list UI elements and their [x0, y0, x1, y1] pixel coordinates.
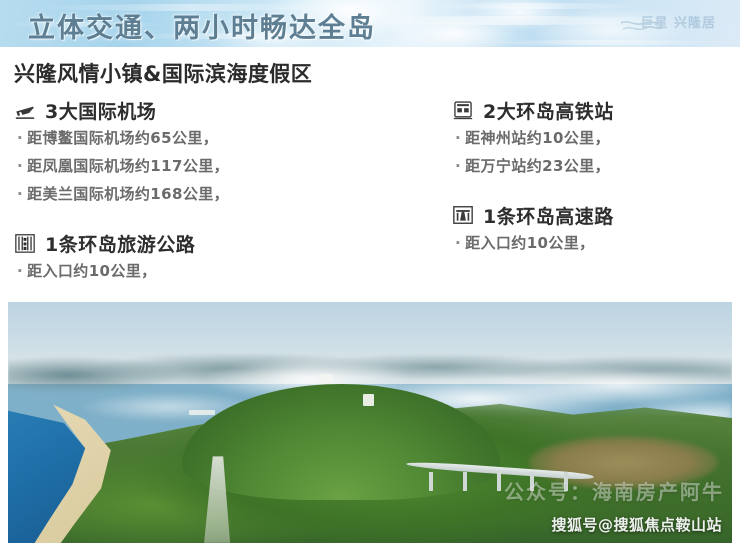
train-icon — [452, 99, 474, 121]
info-block-list: · 距博鳌国际机场约65公里， · 距凤凰国际机场约117公里， · 距美兰国际… — [14, 131, 434, 202]
list-item-text: 距入口约10公里， — [465, 236, 594, 251]
hillside-building — [319, 374, 333, 383]
cloud-streak — [420, 3, 650, 9]
watermark: 搜狐号@搜狐焦点鞍山站 — [551, 514, 722, 535]
info-block-list: · 距入口约10公里， — [14, 264, 434, 279]
list-item-text: 距博鳌国际机场约65公里， — [27, 131, 218, 146]
bullet-marker: · — [17, 264, 23, 279]
hillside-building — [189, 410, 215, 415]
list-item-text: 距万宁站约23公里， — [465, 159, 610, 174]
bridge-pier — [429, 472, 433, 490]
highway-icon — [452, 204, 474, 226]
faint-watermark: 公众号：海南房产阿牛 — [504, 476, 724, 505]
info-block-list: · 距神州站约10公里， · 距万宁站约23公里， — [452, 131, 732, 174]
bullet-marker: · — [455, 131, 461, 146]
list-item-text: 距神州站约10公里， — [465, 131, 610, 146]
brand-logo: 巨星 兴隆居 — [620, 12, 716, 38]
bullet-marker: · — [455, 159, 461, 174]
info-block-header: 1条环岛旅游公路 — [14, 229, 434, 257]
info-column-right: 2大环岛高铁站 · 距神州站约10公里， · 距万宁站约23公里， — [452, 96, 732, 264]
banner-title: 立体交通、两小时畅达全岛 — [28, 6, 376, 45]
list-item-text: 距美兰国际机场约168公里， — [27, 187, 229, 202]
airplane-takeoff-icon — [14, 99, 36, 121]
info-block-heading: 1条环岛旅游公路 — [45, 230, 195, 257]
info-block-list: · 距入口约10公里， — [452, 236, 732, 251]
list-item-text: 距凤凰国际机场约117公里， — [27, 159, 229, 174]
bullet-marker: · — [17, 131, 23, 146]
promotional-infographic-page: 立体交通、两小时畅达全岛 巨星 兴隆居 兴隆风情小镇&国际滨海度假区 3大国际机… — [0, 0, 740, 543]
info-block-heading: 1条环岛高速路 — [483, 202, 614, 229]
info-block-heading: 2大环岛高铁站 — [483, 97, 614, 124]
info-block-tourist-road: 1条环岛旅游公路 · 距入口约10公里， — [14, 229, 434, 279]
bridge-pier — [463, 472, 467, 490]
list-item: · 距凤凰国际机场约117公里， — [17, 159, 434, 174]
info-block-heading: 3大国际机场 — [45, 97, 156, 124]
info-block-header: 2大环岛高铁站 — [452, 96, 732, 124]
brand-logo-text: 巨星 兴隆居 — [640, 12, 716, 31]
header-banner: 立体交通、两小时畅达全岛 巨星 兴隆居 — [0, 0, 740, 47]
bullet-marker: · — [17, 159, 23, 174]
list-item: · 距神州站约10公里， — [455, 131, 732, 146]
transport-info-section: 3大国际机场 · 距博鳌国际机场约65公里， · 距凤凰国际机场约117公里， … — [0, 96, 740, 296]
info-block-airports: 3大国际机场 · 距博鳌国际机场约65公里， · 距凤凰国际机场约117公里， … — [14, 96, 434, 202]
info-block-expressway: 1条环岛高速路 · 距入口约10公里， — [452, 201, 732, 251]
bridge-pier — [497, 472, 501, 490]
info-column-left: 3大国际机场 · 距博鳌国际机场约65公里， · 距凤凰国际机场约117公里， … — [14, 96, 434, 292]
cloud-streak — [470, 40, 730, 45]
info-block-header: 3大国际机场 — [14, 96, 434, 124]
list-item: · 距入口约10公里， — [17, 264, 434, 279]
aerial-landscape-photo: 公众号：海南房产阿牛 搜狐号@搜狐焦点鞍山站 — [8, 302, 732, 543]
list-item: · 距美兰国际机场约168公里， — [17, 187, 434, 202]
list-item: · 距博鳌国际机场约65公里， — [17, 131, 434, 146]
list-item: · 距万宁站约23公里， — [455, 159, 732, 174]
list-item-text: 距入口约10公里， — [27, 264, 156, 279]
info-block-rail-stations: 2大环岛高铁站 · 距神州站约10公里， · 距万宁站约23公里， — [452, 96, 732, 174]
tourist-road-icon — [14, 232, 36, 254]
bullet-marker: · — [455, 236, 461, 251]
info-block-header: 1条环岛高速路 — [452, 201, 732, 229]
bullet-marker: · — [17, 187, 23, 202]
list-item: · 距入口约10公里， — [455, 236, 732, 251]
hillside-building — [363, 394, 374, 406]
page-title: 兴隆风情小镇&国际滨海度假区 — [14, 58, 312, 88]
